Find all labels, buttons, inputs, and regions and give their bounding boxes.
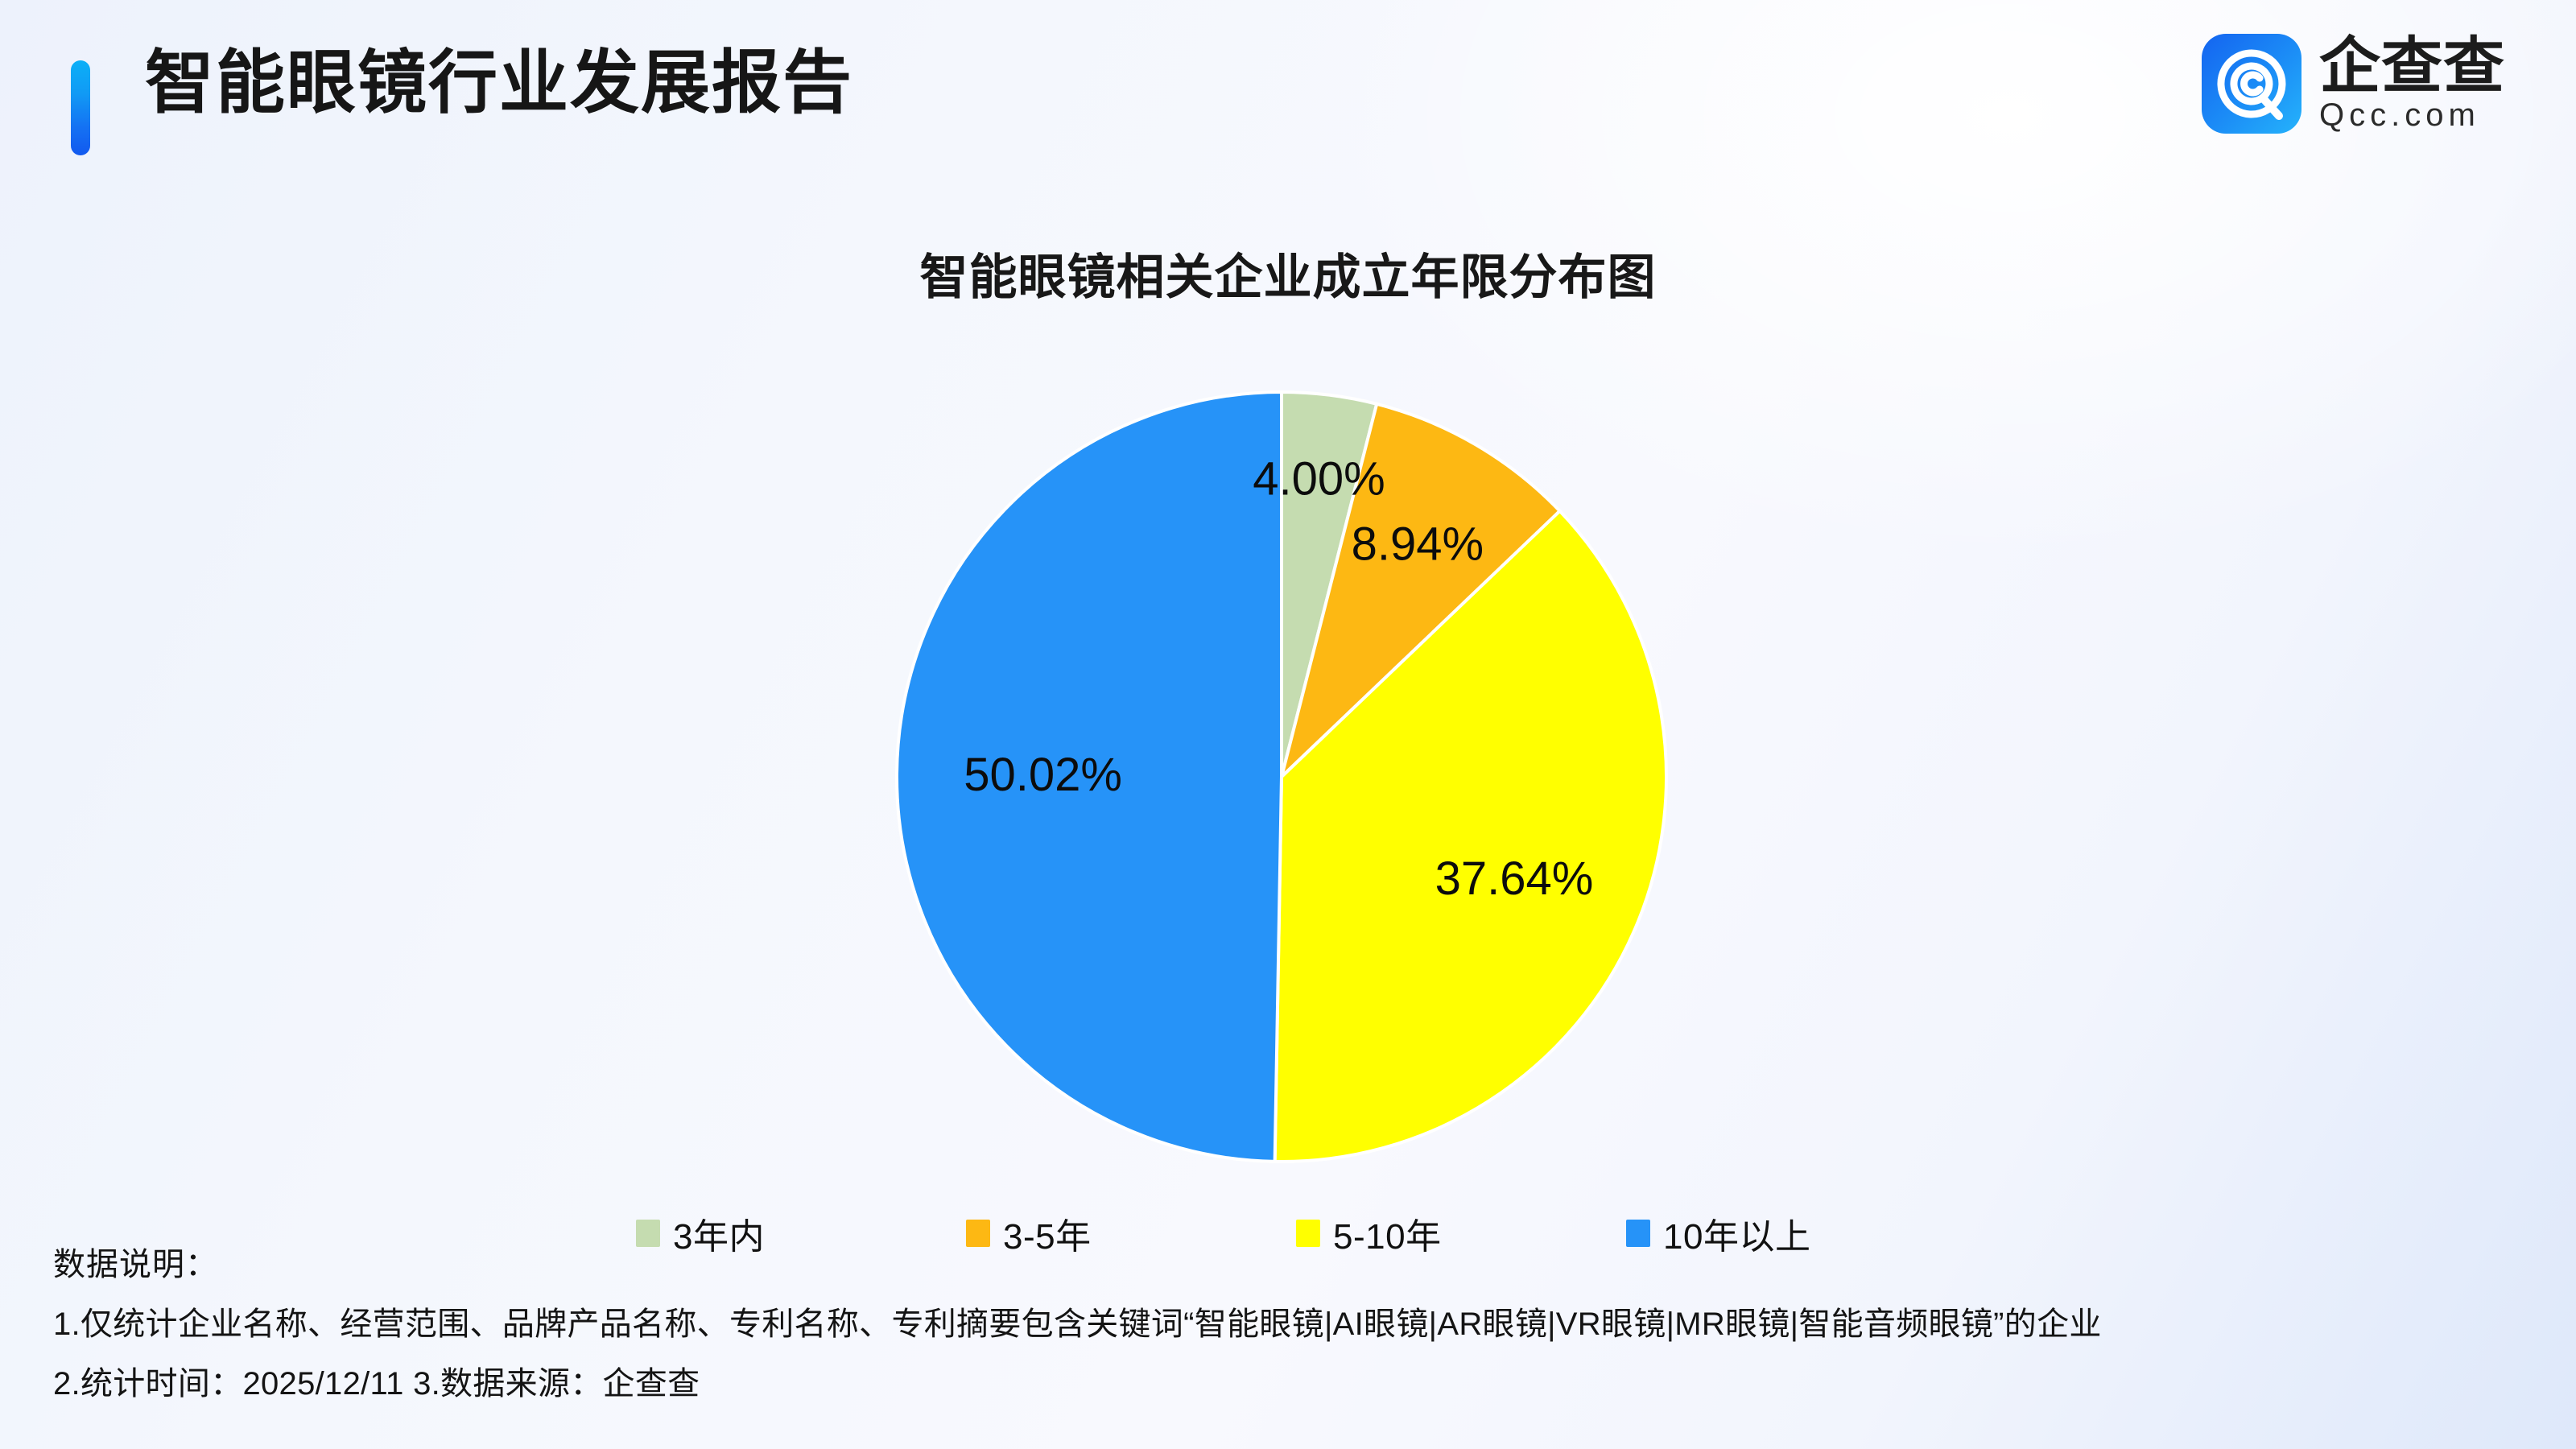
brand-name: 企查查: [2319, 36, 2505, 97]
notes-heading: 数据说明：: [53, 1235, 2533, 1294]
brand-domain: Qcc.com: [2319, 99, 2505, 131]
data-notes: 数据说明： 1.仅统计企业名称、经营范围、品牌产品名称、专利名称、专利摘要包含关…: [53, 1235, 2533, 1414]
chart-title: 智能眼镜相关企业成立年限分布图: [0, 238, 2576, 308]
brand-logo[interactable]: 企查查 Qcc.com: [2202, 34, 2505, 134]
title-accent-bar: [71, 60, 90, 155]
qcc-q-target-icon: [2202, 34, 2301, 134]
pie-slice-label: 50.02%: [964, 749, 1122, 801]
report-page: 智能眼镜行业发展报告 企查查 Qcc.com 智能眼镜相关企业成立年限分布图: [0, 0, 2576, 1449]
pie-chart: 4.00%8.94%37.64%50.02%: [895, 390, 1668, 1163]
notes-line-1: 1.仅统计企业名称、经营范围、品牌产品名称、专利名称、专利摘要包含关键词“智能眼…: [53, 1294, 2533, 1354]
page-header: 智能眼镜行业发展报告 企查查 Qcc.com: [0, 0, 2576, 201]
page-title: 智能眼镜行业发展报告: [145, 39, 853, 129]
brand-text: 企查查 Qcc.com: [2319, 36, 2505, 131]
notes-line-2: 2.统计时间：2025/12/11 3.数据来源：企查查: [53, 1354, 2533, 1414]
pie-slice-label: 4.00%: [1253, 453, 1385, 506]
pie-slice-label: 37.64%: [1435, 852, 1594, 905]
pie-slice-label: 8.94%: [1352, 518, 1484, 571]
pie-chart-svg: 4.00%8.94%37.64%50.02%: [895, 390, 1668, 1163]
